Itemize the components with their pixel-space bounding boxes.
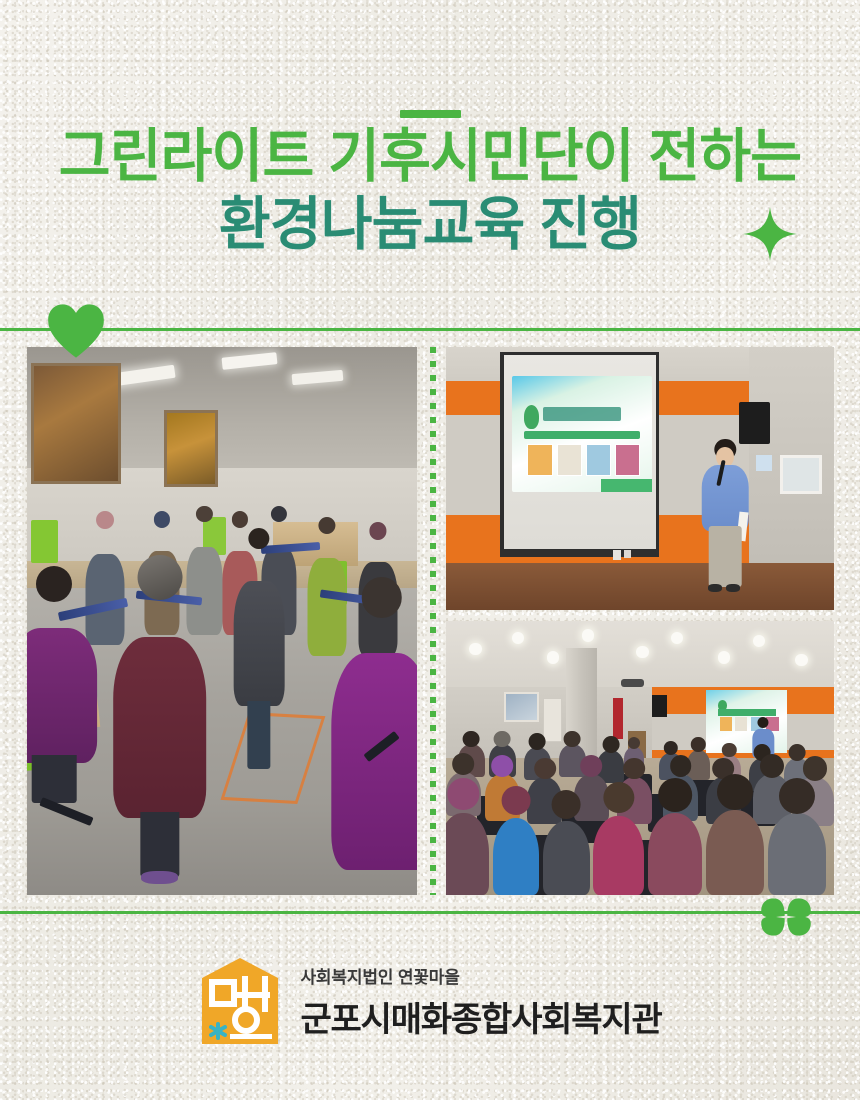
title-line-2: 환경나눔교육 진행	[13, 196, 847, 254]
page-title: 그린라이트 기후시민단이 전하는 환경나눔교육 진행	[0, 128, 860, 254]
top-divider-rule	[0, 328, 860, 331]
heart-icon	[47, 303, 105, 359]
bottom-divider-rule	[0, 911, 860, 914]
photo-bottom-right	[446, 621, 834, 895]
four-leaf-clover-icon	[755, 886, 817, 948]
organization-sub-name: 사회복지법인 연꽃마을	[300, 963, 661, 988]
footer-text-block: 사회복지법인 연꽃마을 군포시매화종합사회복지관	[300, 963, 661, 1041]
organization-name: 군포시매화종합사회복지관	[300, 992, 661, 1041]
title-accent-dash	[400, 110, 461, 118]
photo-left	[27, 347, 417, 895]
title-line-1: 그린라이트 기후시민단이 전하는	[13, 128, 847, 196]
photo-top-right	[446, 347, 834, 610]
maehwa-house-logo	[198, 956, 282, 1048]
poster-stage: 그린라이트 기후시민단이 전하는 환경나눔교육 진행	[0, 0, 860, 1100]
dotted-divider	[430, 347, 436, 895]
sparkle-star-icon	[742, 206, 798, 262]
footer: 사회복지법인 연꽃마을 군포시매화종합사회복지관	[0, 952, 860, 1052]
